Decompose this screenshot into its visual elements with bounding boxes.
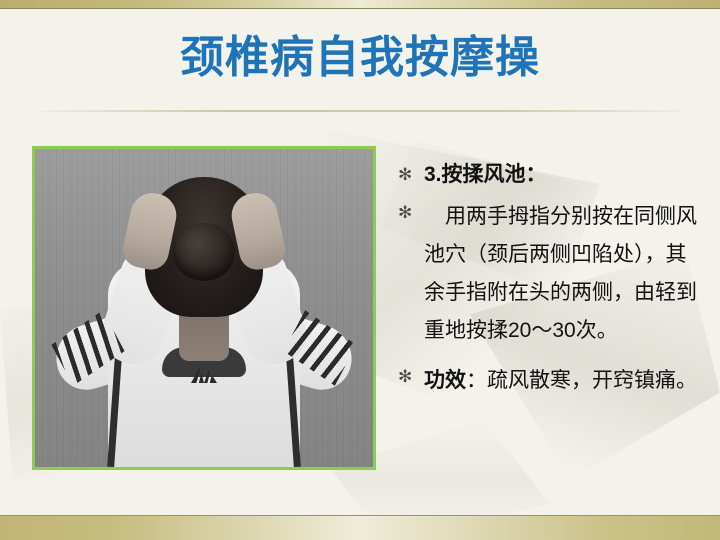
bullet-body-text: 用两手拇指分别按在同侧风池穴（颈后两侧凹陷处），其余手指附在头的两侧，由轻到重地… [424,198,698,350]
body-text-column: ✻ 3.按揉风池： ✻ 用两手拇指分别按在同侧风池穴（颈后两侧凹陷处），其余手指… [394,160,698,402]
list-item: ✻ 功效：疏风散寒，开窍镇痛。 [394,362,698,400]
asterisk-bullet-icon: ✻ [394,362,424,392]
bullet-effect-text: 功效：疏风散寒，开窍镇痛。 [424,362,698,400]
bullet-effect-label: 功效 [424,369,466,392]
asterisk-bullet-icon: ✻ [394,160,424,190]
bottom-accent-band [0,515,720,540]
photo-hair-bun [173,223,235,281]
photo-canvas [35,149,373,467]
title-divider [38,110,682,112]
page-title: 颈椎病自我按摩操 [0,34,720,82]
illustration-photo [32,146,376,470]
title-area: 颈椎病自我按摩操 [0,34,720,82]
top-accent-band [0,0,720,9]
list-item: ✻ 用两手拇指分别按在同侧风池穴（颈后两侧凹陷处），其余手指附在头的两侧，由轻到… [394,198,698,350]
bullet-heading-text: 3.按揉风池： [424,160,698,190]
asterisk-bullet-icon: ✻ [394,198,424,228]
list-item: ✻ 3.按揉风池： [394,160,698,190]
bullet-effect-detail: ：疏风散寒，开窍镇痛。 [466,369,697,392]
slide-canvas: 颈椎病自我按摩操 ✻ 3.按揉风池： ✻ [0,0,720,540]
